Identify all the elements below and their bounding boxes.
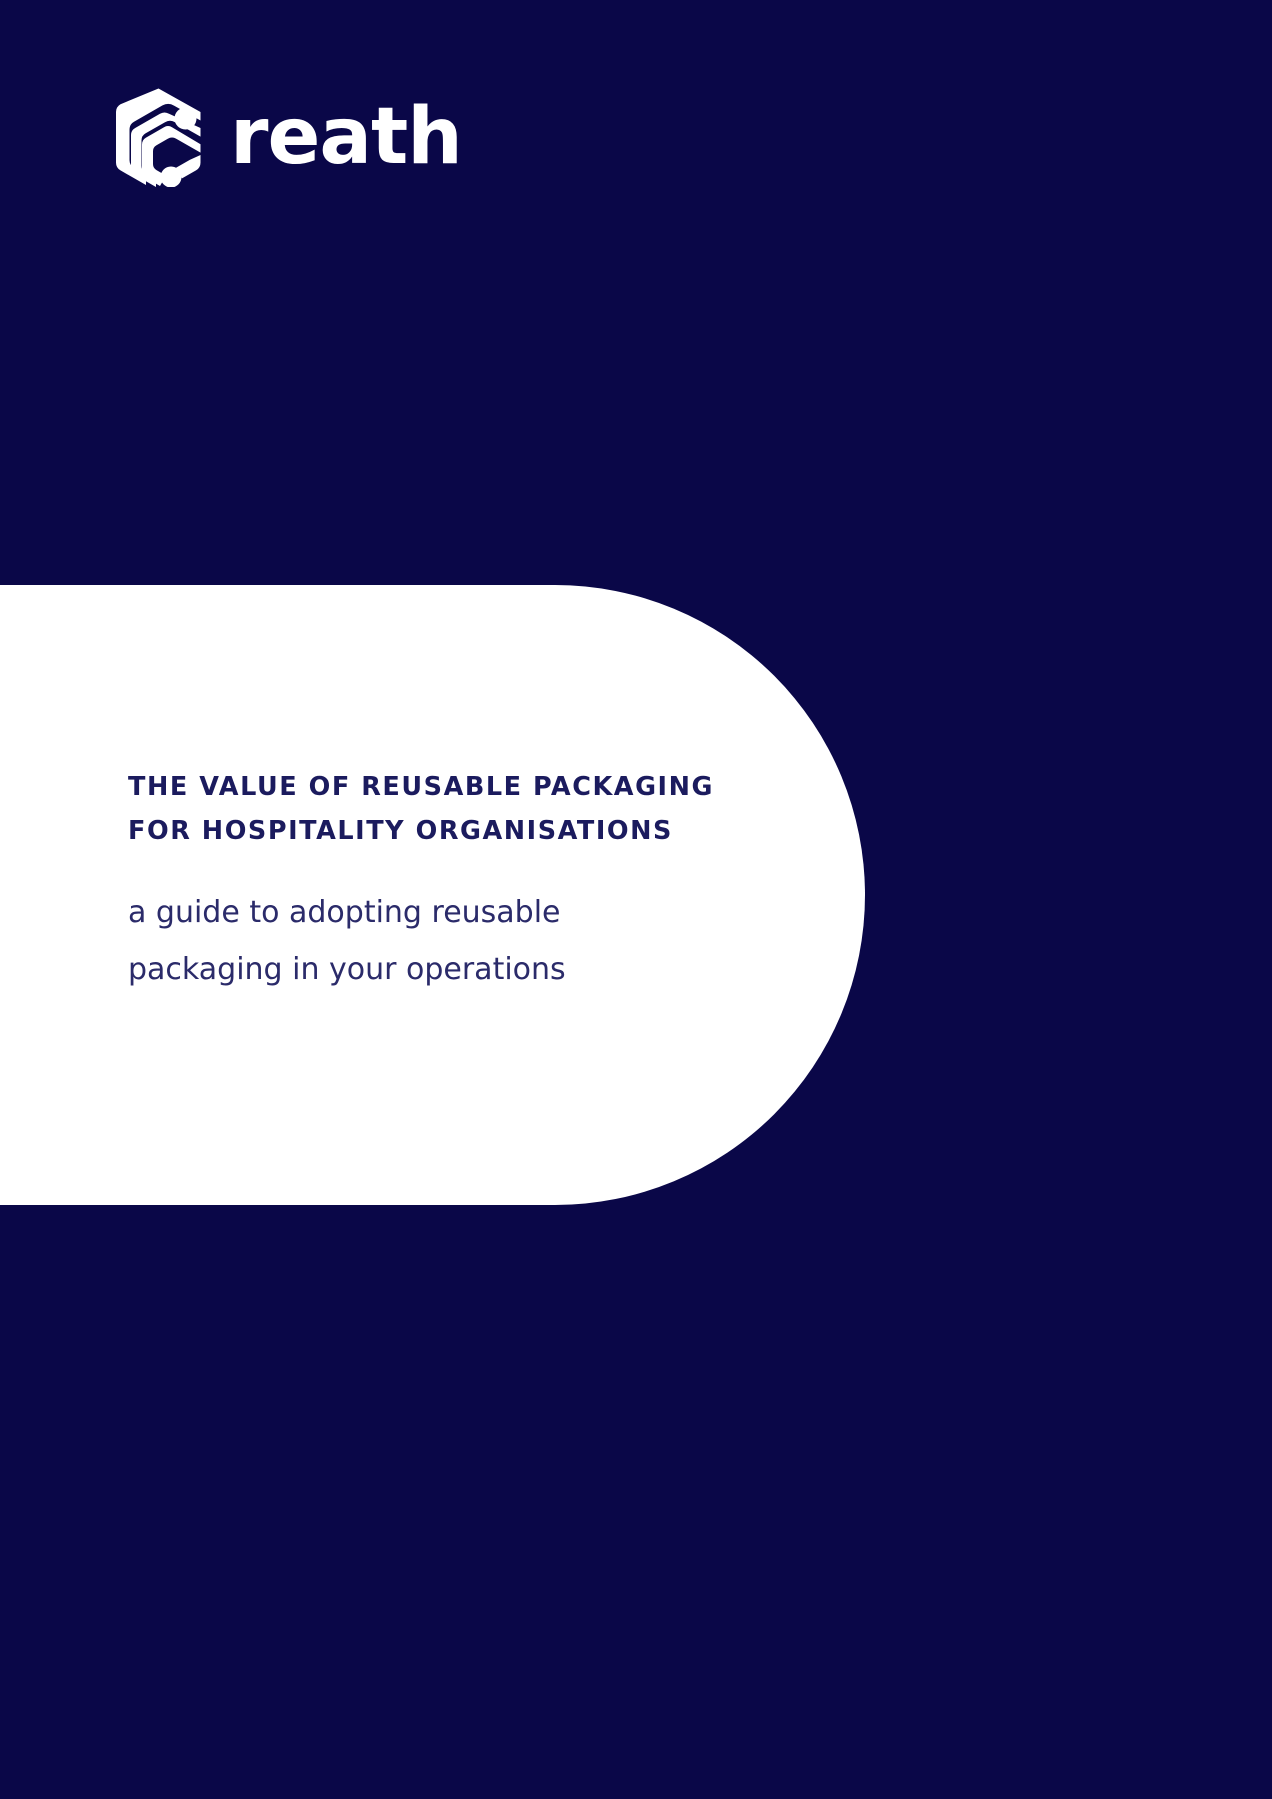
reath-hexagon-circuit-mark-icon xyxy=(112,87,204,187)
cover-page: reath THE VALUE OF REUSABLE PACKAGING FO… xyxy=(0,0,1272,1799)
svg-text:reath: reath xyxy=(230,97,462,181)
page-subtitle: a guide to adopting reusable packaging i… xyxy=(128,854,728,999)
cover-text-block: THE VALUE OF REUSABLE PACKAGING FOR HOSP… xyxy=(128,766,728,999)
brand-logo-lockup[interactable]: reath xyxy=(112,82,530,192)
page-title: THE VALUE OF REUSABLE PACKAGING FOR HOSP… xyxy=(128,766,728,854)
reath-wordmark: reath xyxy=(230,97,530,181)
